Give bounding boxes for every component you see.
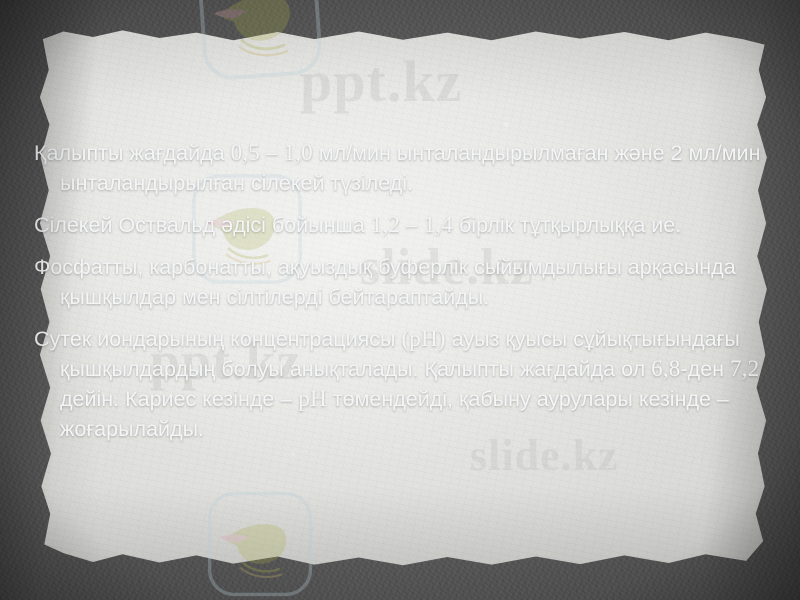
paragraph-ph-concentration: Сутек иондарының концентрациясы (pH) ауы…: [34, 324, 770, 444]
paragraph-ostwald-viscosity: Сілекей Оствальд әдісі бойынша 1,2 – 1,4…: [34, 210, 770, 240]
slide-body-text: Қалыпты жағдайда 0,5 – 1,0 мл/мин ынтала…: [34, 138, 770, 444]
presentation-slide: ppt.kz slide.kz ppt.kz slide.kz Қалыпты …: [0, 0, 800, 600]
paragraph-buffer-capacity: Фосфатты, карбонатты, ақуыздық буферлік …: [34, 252, 770, 312]
paragraph-saliva-secretion-rate: Қалыпты жағдайда 0,5 – 1,0 мл/мин ынтала…: [34, 138, 770, 198]
